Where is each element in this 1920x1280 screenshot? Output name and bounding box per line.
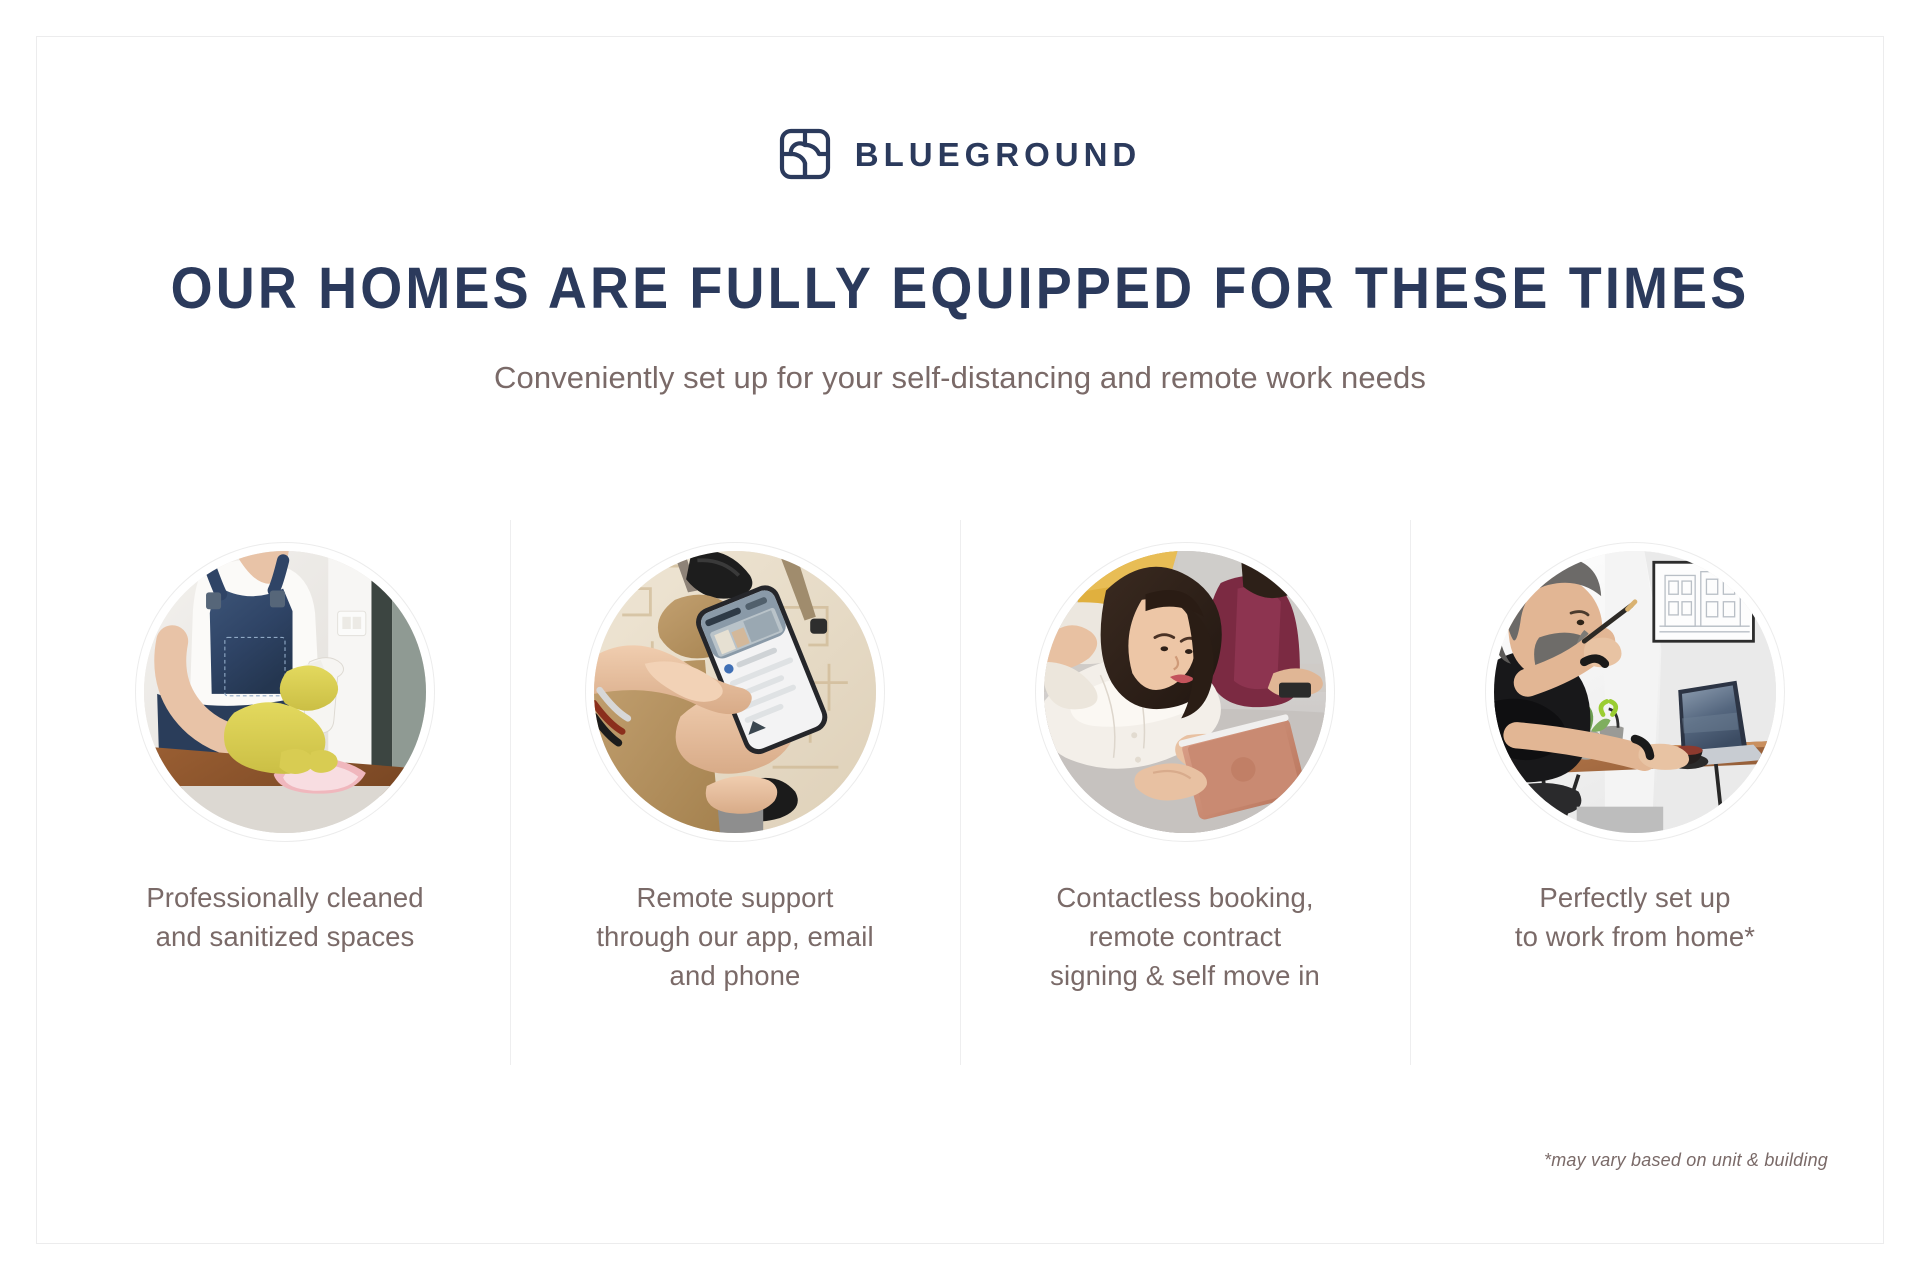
feature-caption: Professionally cleaned and sanitized spa… [146, 878, 423, 956]
tablet-booking-photo [1044, 551, 1326, 833]
infographic-page: BLUEGROUND OUR HOMES ARE FULLY EQUIPPED … [0, 0, 1920, 1280]
feature-thumb-ring [1035, 542, 1335, 842]
blueground-square-mark-icon [779, 128, 831, 180]
feature-caption: Perfectly set up to work from home* [1515, 878, 1755, 956]
feature-item-cleaning: Professionally cleaned and sanitized spa… [60, 520, 510, 1065]
work-from-home-photo [1494, 551, 1776, 833]
smartphone-app-photo [594, 551, 876, 833]
feature-item-work-from-home: Perfectly set up to work from home* [1410, 520, 1860, 1065]
feature-caption: Contactless booking, remote contract sig… [1050, 878, 1320, 995]
brand-lockup: BLUEGROUND [0, 128, 1920, 180]
feature-caption: Remote support through our app, email an… [596, 878, 873, 995]
page-title: OUR HOMES ARE FULLY EQUIPPED FOR THESE T… [67, 258, 1853, 319]
feature-item-remote-support: Remote support through our app, email an… [510, 520, 960, 1065]
page-subtitle: Conveniently set up for your self-distan… [0, 358, 1920, 398]
feature-columns: Professionally cleaned and sanitized spa… [60, 520, 1860, 1065]
brand-wordmark: BLUEGROUND [855, 138, 1142, 171]
feature-thumb-ring [585, 542, 885, 842]
feature-thumb-ring [1485, 542, 1785, 842]
footnote-disclaimer: *may vary based on unit & building [1544, 1150, 1828, 1171]
feature-item-contactless-booking: Contactless booking, remote contract sig… [960, 520, 1410, 1065]
feature-thumb-ring [135, 542, 435, 842]
cleaning-gloves-photo [144, 551, 426, 833]
